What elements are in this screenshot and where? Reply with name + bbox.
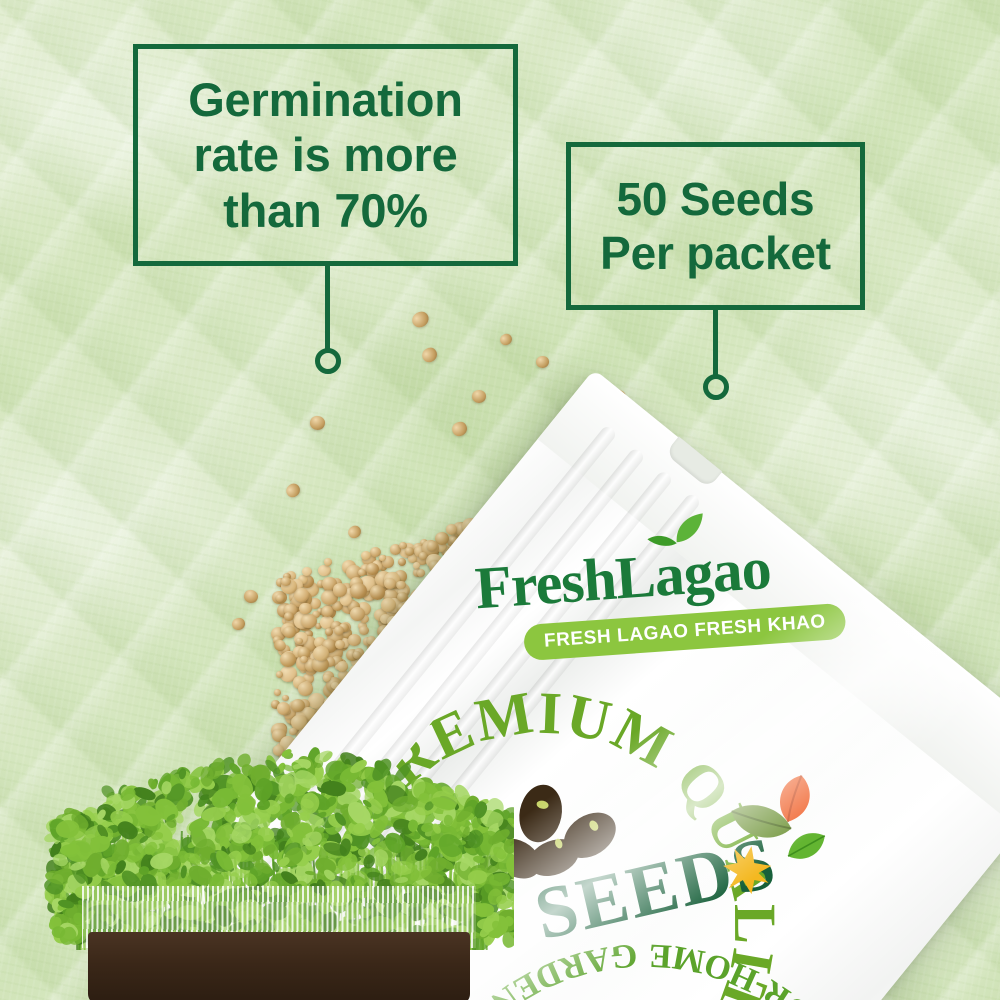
seed: [358, 569, 365, 576]
leader-line: [325, 266, 330, 350]
seed: [318, 565, 331, 577]
seed: [348, 634, 361, 646]
seed: [335, 640, 345, 649]
seed: [334, 626, 344, 635]
callout-germination-text: Germinationrate is morethan 70%: [178, 72, 473, 238]
seed: [280, 652, 296, 667]
seed: [291, 699, 305, 712]
seed: [384, 578, 396, 589]
seed: [419, 552, 427, 559]
callout-line: 50 Seeds: [600, 172, 831, 226]
microgreens-tray: [44, 722, 514, 1000]
seed: [324, 558, 332, 566]
seed: [427, 541, 437, 550]
callout-seed-count-text: 50 SeedsPer packet: [590, 172, 841, 281]
seed: [379, 555, 386, 562]
seed: [361, 551, 371, 560]
seed: [282, 695, 289, 702]
seed: [284, 612, 294, 622]
seed: [366, 563, 379, 575]
scattered-seed: [346, 523, 363, 540]
seed: [323, 674, 331, 682]
seed: [417, 569, 425, 577]
leader-line: [713, 310, 718, 376]
callout-line: rate is more: [188, 127, 463, 182]
seed: [299, 603, 311, 615]
microgreens-soil: [88, 932, 470, 1000]
scattered-seed: [284, 481, 303, 500]
callout-line: than 70%: [188, 183, 463, 238]
seed: [300, 656, 308, 664]
seed: [359, 626, 369, 635]
product-marketing-image: FreshLagao FRESH LAGAO FRESH KHAO PREMIU…: [0, 0, 1000, 1000]
seed: [446, 524, 457, 534]
leader-endpoint-circle: [703, 374, 729, 400]
seed: [274, 689, 281, 696]
seed: [298, 682, 313, 696]
callout-line: Germination: [188, 72, 463, 127]
leader-endpoint-circle: [315, 348, 341, 374]
seed: [302, 567, 312, 576]
seed: [322, 606, 333, 617]
callout-seed-count: 50 SeedsPer packet: [566, 142, 865, 310]
microgreen-leaf: [395, 876, 408, 882]
seed: [396, 581, 405, 590]
logo-leaf-icon: [644, 510, 706, 548]
seed: [398, 558, 407, 566]
seed: [381, 598, 395, 612]
seed: [337, 661, 348, 671]
seed: [277, 702, 291, 715]
seed: [333, 583, 348, 597]
seed: [281, 577, 291, 586]
scattered-seed: [536, 356, 549, 368]
callout-line: Per packet: [600, 226, 831, 280]
callout-germination: Germinationrate is morethan 70%: [133, 44, 518, 266]
